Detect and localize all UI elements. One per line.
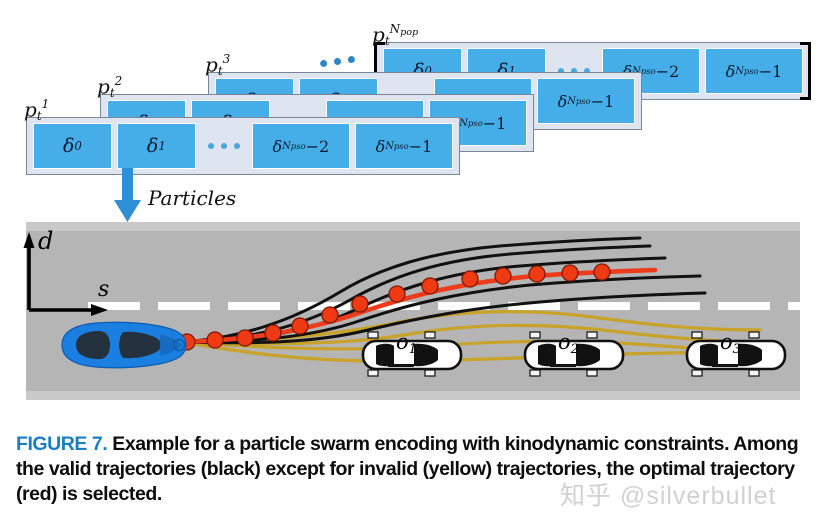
o-subscript: 2 bbox=[571, 342, 579, 357]
particle-cell-delta1: δ1 bbox=[117, 123, 196, 169]
particle-row-3-label: pt3 bbox=[205, 52, 230, 78]
particle-row-npop-label: ptNpop bbox=[372, 22, 418, 48]
particle-row-2-label: pt2 bbox=[97, 74, 122, 100]
particle-cell-delta-npso-minus-1: δNpso−1 bbox=[355, 123, 453, 169]
o-symbol: o bbox=[396, 330, 409, 354]
o-subscript: 1 bbox=[409, 342, 417, 357]
o-symbol: o bbox=[558, 330, 571, 354]
particles-label: Particles bbox=[148, 186, 236, 210]
p-subscript: t bbox=[385, 34, 390, 48]
p-symbol: p bbox=[205, 53, 218, 77]
ego-car bbox=[62, 322, 186, 367]
particle-row-1-label: pt1 bbox=[24, 97, 49, 123]
p-symbol: p bbox=[24, 98, 37, 122]
figure-caption: FIGURE 7. Example for a particle swarm e… bbox=[16, 432, 812, 507]
p-subscript: t bbox=[110, 86, 115, 100]
road-shoulder-bottom bbox=[26, 391, 800, 400]
particle-row-1: δ0 δ1 δNpso−2 δNpso−1 bbox=[26, 117, 460, 175]
p-symbol: p bbox=[97, 75, 110, 99]
bracket-right-npop bbox=[800, 42, 811, 100]
lane-divider bbox=[88, 302, 800, 310]
particle-cell-delta0: δ0 bbox=[33, 123, 112, 169]
p-subscript: t bbox=[218, 64, 223, 78]
road-scene bbox=[0, 222, 826, 422]
p-symbol: p bbox=[372, 23, 385, 47]
p-superscript: 3 bbox=[223, 52, 231, 66]
figure-number: FIGURE 7. bbox=[16, 433, 107, 455]
figure-caption-text: Example for a particle swarm encoding wi… bbox=[16, 433, 798, 505]
obstacle-car-1-label: o1 bbox=[396, 330, 417, 357]
axis-label-d: d bbox=[38, 227, 53, 255]
obstacle-car-2-label: o2 bbox=[558, 330, 579, 357]
particle-cell-delta-npso-minus-1: δNpso−1 bbox=[537, 78, 635, 124]
p-superscript: 1 bbox=[42, 97, 50, 111]
particle-cell-delta-npso-minus-1: δNpso−1 bbox=[705, 48, 803, 94]
obstacle-car-3-label: o3 bbox=[720, 330, 741, 357]
particle-rows-ellipsis bbox=[320, 56, 356, 68]
p-subscript: t bbox=[37, 109, 42, 123]
p-superscript: 2 bbox=[115, 74, 123, 88]
axis-label-s: s bbox=[98, 277, 109, 302]
o-symbol: o bbox=[720, 330, 733, 354]
o-subscript: 3 bbox=[733, 342, 741, 357]
p-superscript: Npop bbox=[390, 22, 419, 36]
particle-cell-delta-npso-minus-2: δNpso−2 bbox=[252, 123, 350, 169]
particle-cells-ellipsis bbox=[201, 123, 247, 169]
